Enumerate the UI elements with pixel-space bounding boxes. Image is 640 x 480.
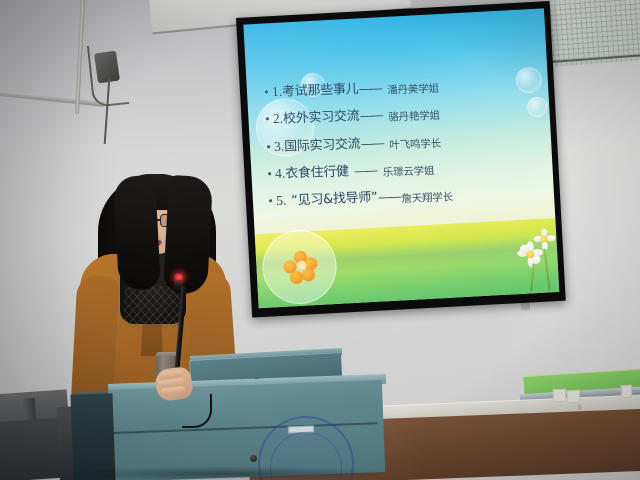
bullet-dot-icon (269, 199, 272, 202)
orange-flower-ring-icon (284, 251, 318, 283)
bullet-topic: “见习&找导师” (290, 186, 377, 208)
bullet-number: 4. (274, 165, 285, 181)
slide-bullet-list: 1. 考试那些事儿 —— 潘丹美学姐 2. 校外实习交流 —— 骆丹艳学姐 (264, 70, 546, 217)
bullet-number: 1. (271, 83, 282, 99)
bullet-dash: —— (354, 163, 377, 178)
bullet-dash: —— (360, 108, 383, 123)
teal-lectern (72, 372, 402, 480)
bullet-dot-icon (265, 117, 268, 120)
bullet-speaker: 叶飞鸣学长 (389, 135, 441, 152)
hair-front-right (163, 175, 213, 295)
bullet-speaker: 詹天翔学长 (401, 189, 453, 206)
slide-bullet-5: 5. “见习&找导师” —— 詹天翔学长 (268, 180, 545, 210)
scarf-knit-texture (124, 286, 182, 328)
bullet-topic: 考试那些事儿 (281, 77, 358, 99)
bullet-speaker: 乐璟云学姐 (382, 162, 434, 179)
wall-outlet[interactable] (621, 385, 633, 398)
bullet-dash: —— (378, 189, 401, 204)
projection-screen: 1. 考试那些事儿 —— 潘丹美学姐 2. 校外实习交流 —— 骆丹艳学姐 (236, 1, 566, 318)
bullet-number: 2. (272, 111, 283, 127)
wall-outlet[interactable] (553, 389, 567, 403)
bullet-dot-icon (267, 144, 270, 147)
lecture-hall-scene: 1. 考试那些事儿 —— 潘丹美学姐 2. 校外实习交流 —— 骆丹艳学姐 (0, 0, 640, 480)
bullet-topic: 校外实习交流 (282, 105, 359, 127)
bullet-speaker: 骆丹艳学姐 (388, 108, 440, 125)
bullet-number: 5. (275, 192, 286, 208)
lectern-lock-knob[interactable] (250, 455, 257, 462)
bullet-dot-icon (268, 172, 271, 175)
junction-box (94, 51, 120, 84)
bullet-number: 3. (273, 138, 284, 154)
bullet-dot-icon (264, 90, 267, 93)
slide-bullet-4: 4. 衣食住行健 —— 乐璟云学姐 (267, 152, 544, 182)
bullet-topic: 衣食住行健 (284, 160, 348, 181)
slide-bullet-2: 2. 校外实习交流 —— 骆丹艳学姐 (265, 98, 542, 128)
bullet-dash: —— (358, 81, 381, 96)
microphone-led-indicator (175, 274, 183, 281)
hair-front-left (113, 175, 161, 291)
bullet-topic: 国际实习交流 (283, 132, 360, 154)
bullet-speaker: 潘丹美学姐 (387, 80, 439, 97)
lectern-shadow (60, 466, 400, 480)
bullet-dash: —— (361, 135, 384, 150)
side-table-front (0, 417, 66, 480)
projected-slide: 1. 考试那些事儿 —— 潘丹美学姐 2. 校外实习交流 —— 骆丹艳学姐 (243, 8, 559, 308)
wall-outlet[interactable] (567, 390, 581, 404)
slide-bullet-3: 3. 国际实习交流 —— 叶飞鸣学长 (266, 125, 543, 155)
